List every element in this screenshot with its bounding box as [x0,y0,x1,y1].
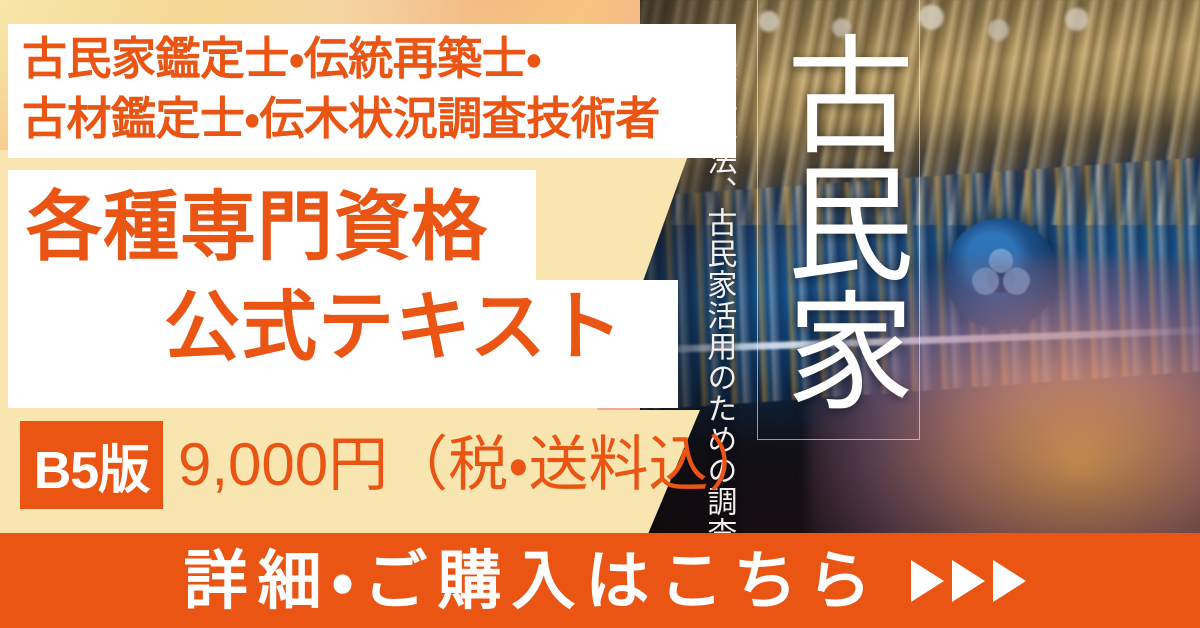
triangle-right-icon [952,560,985,602]
book-cover-title: 古民家 [766,6,912,436]
triangle-right-icon [993,560,1026,602]
promo-banner: 古民家 伝統構法、古民家活用のための調査と再生の 古民家鑑定士・伝統再築士・ 古… [0,0,1200,628]
qualifications-panel: 古民家鑑定士・伝統再築士・ 古材鑑定士・伝木状況調査技術者 [8,24,736,158]
qualifications-line-1: 古民家鑑定士・伝統再築士・ [22,29,660,89]
cta-bar[interactable]: 詳細・ご購入はこちら [0,533,1200,628]
headline-line-2: 公式テキスト [164,276,624,380]
book-size-badge: B5版 [20,421,163,509]
cta-label: 詳細・ご購入はこちら [174,549,882,613]
cta-arrow-group [911,560,1026,602]
headline-line-1: 各種専門資格 [26,176,488,280]
qualifications-text: 古民家鑑定士・伝統再築士・ 古材鑑定士・伝木状況調査技術者 [22,29,660,149]
price-text: 9,000円（税・送料込） [178,424,769,506]
qualifications-line-2: 古材鑑定士・伝木状況調査技術者 [22,89,660,149]
triangle-right-icon [911,560,944,602]
